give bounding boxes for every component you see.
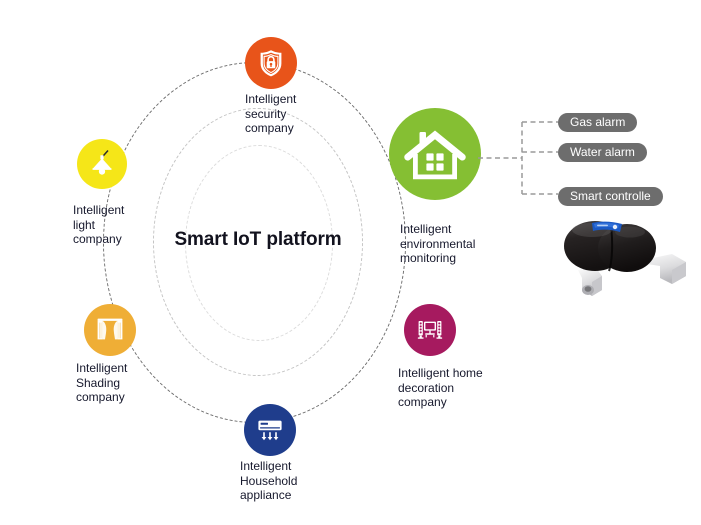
shading-node-label: Intelligent Shading company xyxy=(76,361,172,405)
security-node-circle[interactable] xyxy=(245,37,297,89)
security-node-label: Intelligent security company xyxy=(245,92,337,136)
pill-smart-controller[interactable]: Smart controlle xyxy=(558,187,663,206)
decoration-node-label: Intelligent home decoration company xyxy=(398,366,518,410)
environment-node-label: Intelligent environmental monitoring xyxy=(400,222,510,266)
light-node-circle[interactable] xyxy=(77,139,127,189)
air-conditioner-icon xyxy=(253,413,287,447)
home-theater-icon xyxy=(413,313,447,347)
appliance-node-label: Intelligent Household appliance xyxy=(240,459,340,503)
shield-lock-icon xyxy=(255,47,287,79)
shading-node-circle[interactable] xyxy=(84,304,136,356)
appliance-node-circle[interactable] xyxy=(244,404,296,456)
light-node-label: Intelligent light company xyxy=(73,203,165,247)
curtains-icon xyxy=(93,313,127,347)
pill-gas-alarm[interactable]: Gas alarm xyxy=(558,113,637,132)
center-title: Smart IoT platform xyxy=(150,229,366,251)
pill-water-alarm[interactable]: Water alarm xyxy=(558,143,647,162)
smart-valve-controller-photo xyxy=(548,210,700,300)
iot-platform-diagram: Smart IoT platform Intelligent security … xyxy=(0,0,701,525)
decoration-node-circle[interactable] xyxy=(404,304,456,356)
branch-connector xyxy=(478,108,564,208)
house-icon xyxy=(402,121,468,187)
environment-node-circle[interactable] xyxy=(389,108,481,200)
pendant-lamp-icon xyxy=(86,148,118,180)
